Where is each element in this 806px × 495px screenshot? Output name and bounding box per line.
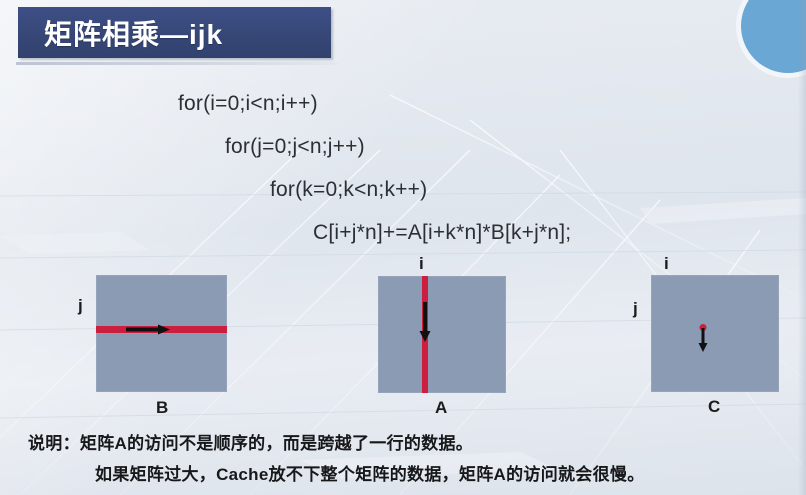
- matrix-a-caption: A: [435, 398, 447, 418]
- title-underline: [16, 62, 338, 65]
- code-line-3: for(k=0;k<n;k++): [0, 168, 806, 211]
- matrix-a-body: [378, 276, 506, 393]
- code-line-1: for(i=0;i<n;i++): [0, 82, 806, 125]
- point-arrow-down-icon: [697, 324, 709, 352]
- matrix-diagram-a: i A: [378, 252, 508, 420]
- slide-canvas: 矩阵相乘—ijk for(i=0;i<n;i++) for(j=0;j<n;j+…: [0, 0, 806, 495]
- arrow-right-icon: [126, 324, 170, 335]
- matrix-c-caption: C: [708, 397, 720, 417]
- matrix-diagram-b: j B: [96, 262, 228, 417]
- matrix-diagram-c: i j C: [651, 252, 783, 420]
- matrix-a-top-label: i: [419, 254, 424, 274]
- matrix-b-caption: B: [156, 398, 168, 418]
- slide-title: 矩阵相乘—ijk: [18, 13, 223, 53]
- matrix-b-side-label: j: [78, 296, 83, 316]
- arrow-down-icon: [419, 302, 431, 342]
- note-line-2: 如果矩阵过大，Cache放不下整个矩阵的数据，矩阵A的访问就会很慢。: [0, 459, 806, 490]
- matrix-c-side-label: j: [633, 299, 638, 319]
- matrix-c-top-label: i: [664, 254, 669, 274]
- note-line-1: 说明：矩阵A的访问不是顺序的，而是跨越了一行的数据。: [0, 428, 806, 459]
- code-line-4: C[i+j*n]+=A[i+k*n]*B[k+j*n];: [0, 211, 806, 254]
- explanation-note: 说明：矩阵A的访问不是顺序的，而是跨越了一行的数据。 如果矩阵过大，Cache放…: [0, 428, 806, 490]
- code-block: for(i=0;i<n;i++) for(j=0;j<n;j++) for(k=…: [0, 82, 806, 254]
- decorative-circle: [736, 0, 806, 78]
- matrix-c-body: [651, 275, 779, 392]
- slide-title-banner: 矩阵相乘—ijk: [18, 7, 331, 58]
- code-line-2: for(j=0;j<n;j++): [0, 125, 806, 168]
